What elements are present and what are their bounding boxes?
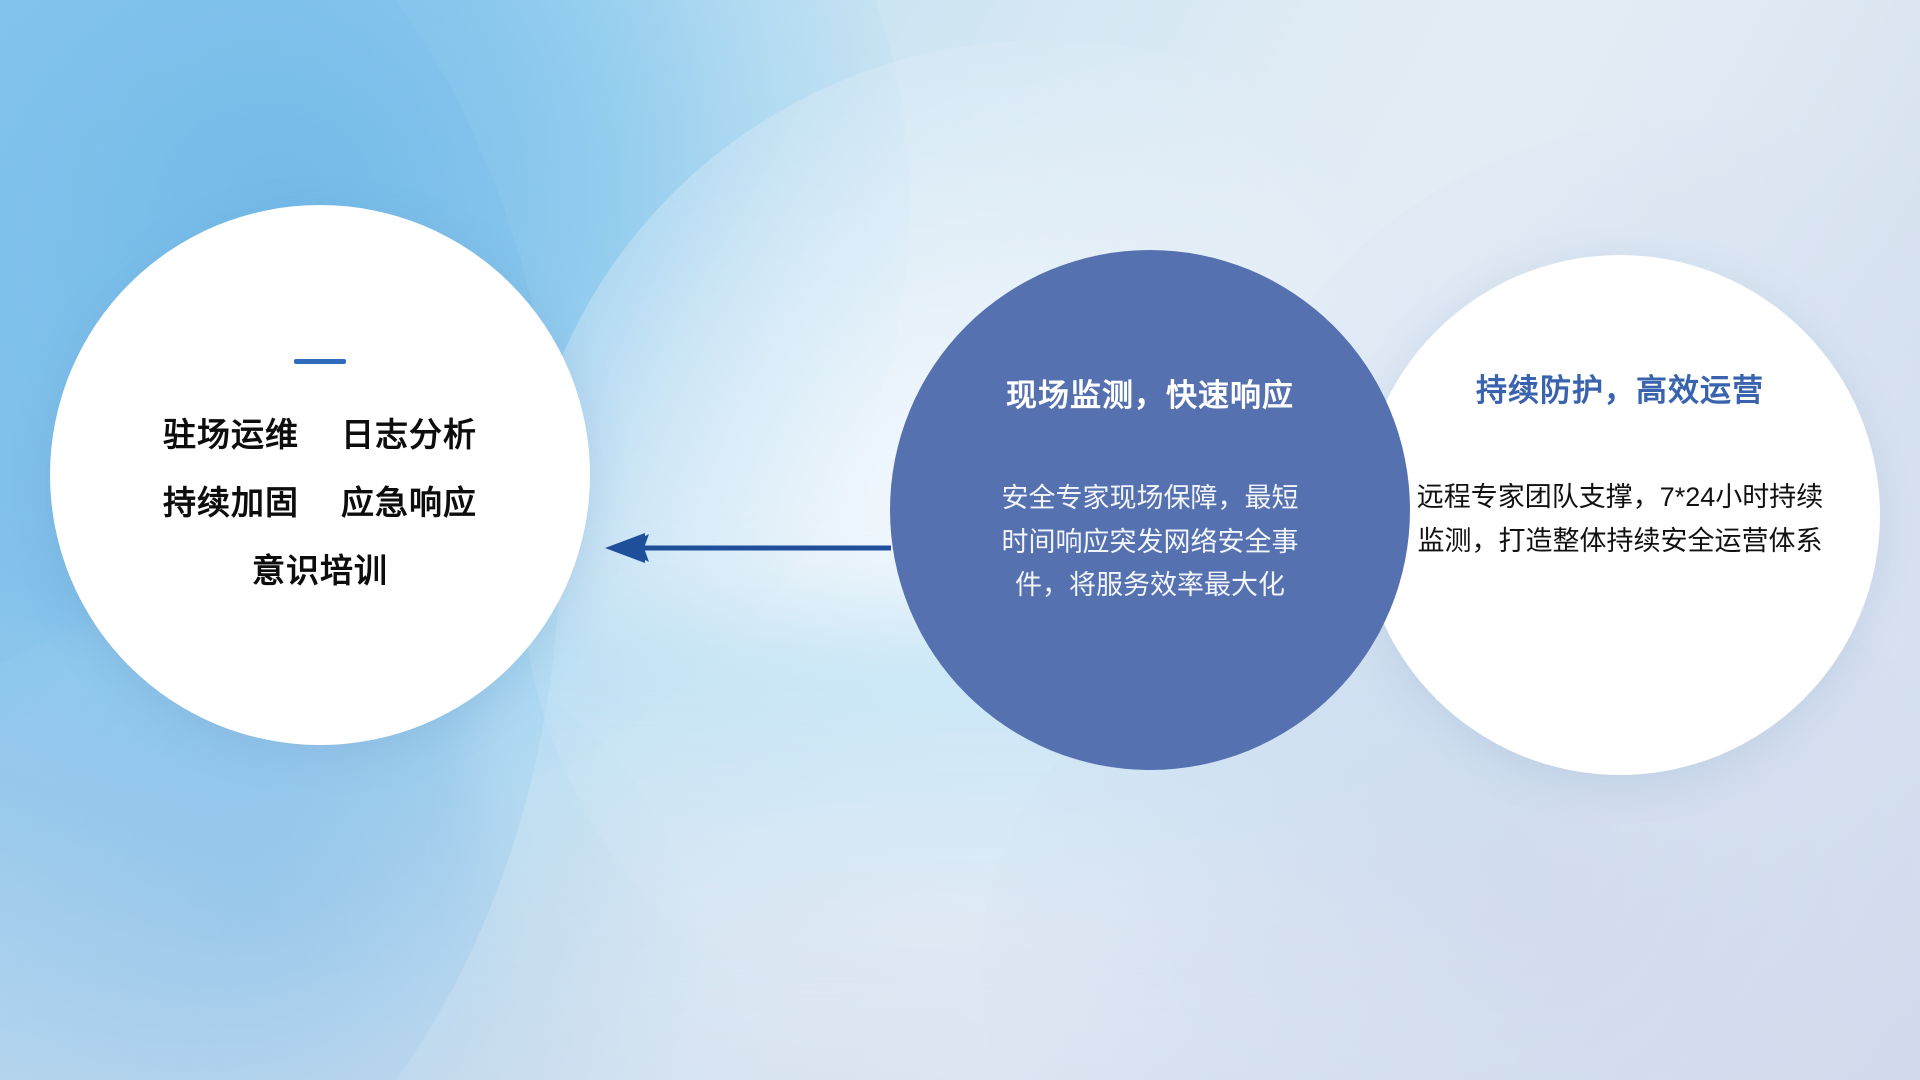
service-item: 日志分析 [341, 408, 477, 456]
service-capabilities-circle: 驻场运维 日志分析 持续加固 应急响应 意识培训 [50, 205, 590, 745]
service-item: 意识培训 [252, 544, 388, 592]
continuous-protection-circle: 持续防护，高效运营 远程专家团队支撑，7*24小时持续监测，打造整体持续安全运营… [1360, 255, 1880, 775]
service-item: 持续加固 [163, 476, 299, 524]
service-capability-list: 驻场运维 日志分析 持续加固 应急响应 意识培训 [163, 408, 477, 592]
service-row: 持续加固 应急响应 [163, 476, 477, 524]
arrow-left-icon [595, 520, 895, 576]
continuous-protection-body: 远程专家团队支撑，7*24小时持续监测，打造整体持续安全运营体系 [1410, 476, 1830, 563]
horizontal-dash-icon [294, 359, 346, 364]
onsite-monitoring-title: 现场监测，快速响应 [1006, 370, 1294, 415]
service-row: 驻场运维 日志分析 [163, 408, 477, 456]
service-item: 应急响应 [341, 476, 477, 524]
continuous-protection-title: 持续防护，高效运营 [1476, 365, 1764, 410]
onsite-monitoring-body: 安全专家现场保障，最短时间响应突发网络安全事件，将服务效率最大化 [995, 477, 1305, 608]
onsite-monitoring-circle: 现场监测，快速响应 安全专家现场保障，最短时间响应突发网络安全事件，将服务效率最… [890, 250, 1410, 770]
service-item: 驻场运维 [163, 408, 299, 456]
service-row: 意识培训 [252, 544, 388, 592]
